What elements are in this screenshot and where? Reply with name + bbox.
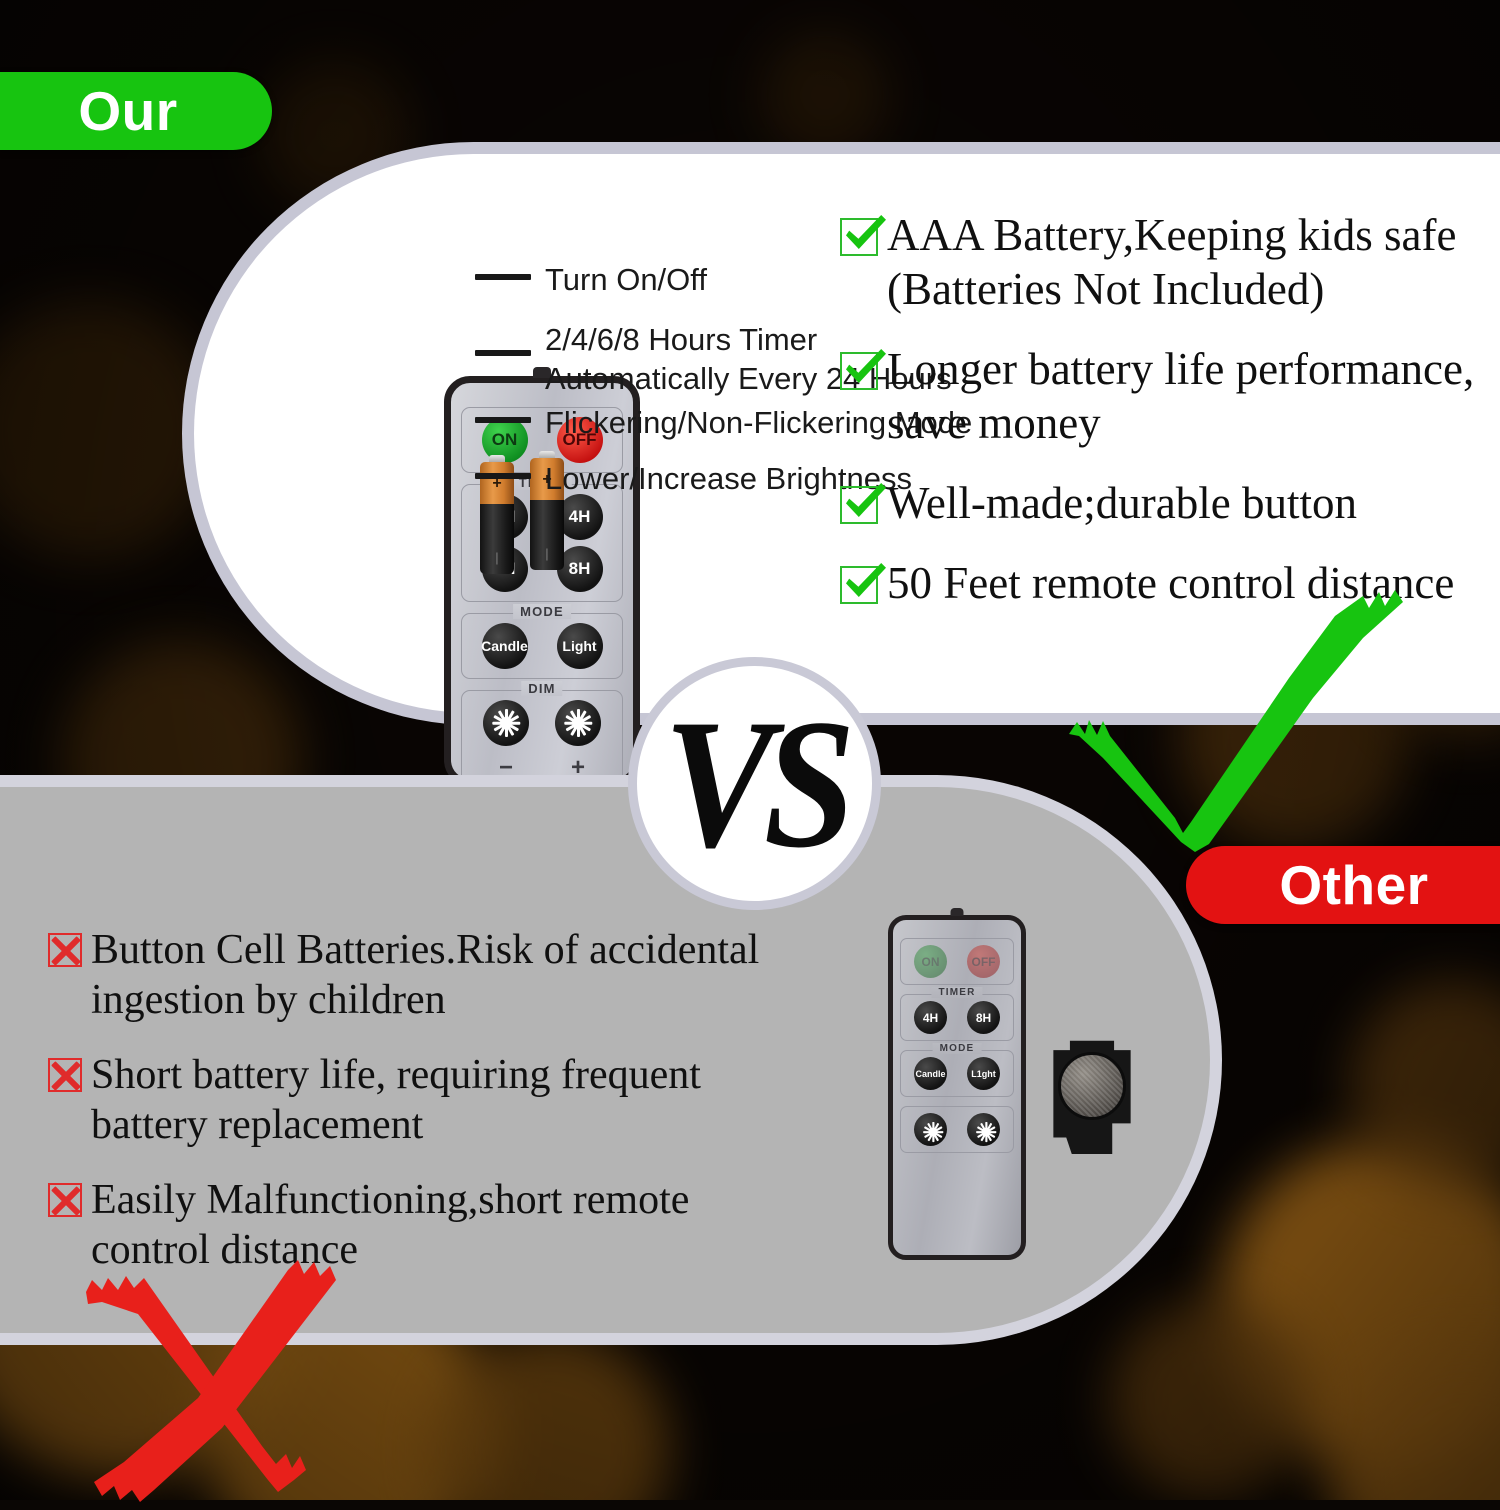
dim-up-button[interactable] bbox=[555, 700, 601, 746]
dim-up-button[interactable] bbox=[967, 1113, 1000, 1146]
callout-leader-line bbox=[475, 473, 531, 479]
list-item: Short battery life, requiring frequent b… bbox=[48, 1050, 788, 1151]
coin-cell-battery-holder bbox=[1046, 1036, 1138, 1154]
brightness-sun-icon bbox=[924, 1123, 938, 1137]
feature-text: Short battery life, requiring frequent b… bbox=[91, 1050, 788, 1151]
check-icon bbox=[840, 218, 878, 256]
dim-group-label: DIM bbox=[521, 681, 562, 696]
mode-button-group: MODE Candle L1ght bbox=[900, 1050, 1014, 1097]
check-icon bbox=[840, 566, 878, 604]
x-icon bbox=[48, 933, 82, 967]
ir-emitter-nub bbox=[951, 908, 964, 916]
other-badge: Other bbox=[1186, 846, 1500, 924]
dim-down-button[interactable] bbox=[914, 1113, 947, 1146]
list-item: Well-made;durable button bbox=[840, 476, 1500, 530]
feature-text: AAA Battery,Keeping kids safe (Batteries… bbox=[887, 208, 1500, 316]
off-button[interactable]: OFF bbox=[967, 945, 1000, 978]
list-item: AAA Battery,Keeping kids safe (Batteries… bbox=[840, 208, 1500, 316]
mode-button-group: MODE Candle Light bbox=[461, 613, 623, 679]
list-item: Longer battery life performance, save mo… bbox=[840, 342, 1500, 450]
check-icon bbox=[840, 352, 878, 390]
brightness-sun-icon bbox=[493, 710, 519, 736]
check-icon bbox=[840, 486, 878, 524]
coin-cell-battery bbox=[1058, 1052, 1126, 1120]
vs-label: VS bbox=[664, 691, 846, 876]
brightness-sun-icon bbox=[565, 710, 591, 736]
timer-4h-button[interactable]: 4H bbox=[914, 1001, 947, 1034]
feature-text: Well-made;durable button bbox=[887, 476, 1357, 530]
candle-mode-button[interactable]: Candle bbox=[482, 623, 528, 669]
x-icon bbox=[48, 1183, 82, 1217]
feature-text: Button Cell Batteries.Risk of accidental… bbox=[91, 925, 788, 1026]
list-item: Button Cell Batteries.Risk of accidental… bbox=[48, 925, 788, 1026]
remote-body: ON OFF TIMER 4H 8H MODE Candle L1ght bbox=[888, 915, 1026, 1260]
brightness-sun-icon bbox=[977, 1123, 991, 1137]
power-button-group: ON OFF bbox=[900, 938, 1014, 985]
big-green-check-icon bbox=[1063, 586, 1403, 852]
battery-minus-label: | bbox=[480, 551, 514, 564]
on-button[interactable]: ON bbox=[914, 945, 947, 978]
battery-minus-label: | bbox=[530, 547, 564, 560]
our-badge: Our bbox=[0, 72, 272, 150]
x-icon bbox=[48, 1058, 82, 1092]
mode-group-label: MODE bbox=[513, 604, 571, 619]
big-red-x-icon bbox=[62, 1258, 378, 1510]
other-feature-list: Button Cell Batteries.Risk of accidental… bbox=[48, 925, 788, 1299]
our-feature-list: AAA Battery,Keeping kids safe (Batteries… bbox=[840, 208, 1500, 636]
candle-mode-button[interactable]: Candle bbox=[914, 1057, 947, 1090]
callout-leader-line bbox=[475, 350, 531, 356]
callout-leader-line bbox=[475, 274, 531, 280]
timer-8h-button[interactable]: 8H bbox=[967, 1001, 1000, 1034]
other-remote-control[interactable]: ON OFF TIMER 4H 8H MODE Candle L1ght bbox=[888, 915, 1026, 1260]
callout-leader-line bbox=[475, 417, 531, 423]
callout-power: Turn On/Off bbox=[475, 260, 707, 299]
timer-button-group: TIMER 4H 8H bbox=[900, 994, 1014, 1041]
light-mode-button[interactable]: Light bbox=[557, 623, 603, 669]
feature-text: Longer battery life performance, save mo… bbox=[887, 342, 1500, 450]
timer-group-label: TIMER bbox=[931, 987, 982, 998]
vs-badge: VS bbox=[628, 657, 881, 910]
callout-text: Turn On/Off bbox=[545, 260, 707, 299]
mode-group-label: MODE bbox=[933, 1043, 982, 1054]
light-mode-button[interactable]: L1ght bbox=[967, 1057, 1000, 1090]
dim-down-button[interactable] bbox=[483, 700, 529, 746]
dim-button-group bbox=[900, 1106, 1014, 1153]
